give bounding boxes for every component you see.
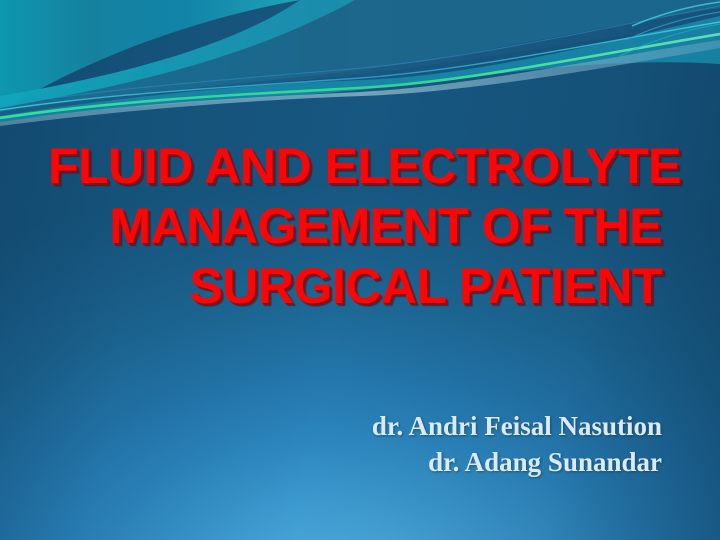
presentation-slide: FLUID AND ELECTROLYTE MANAGEMENT OF THE … xyxy=(0,0,720,540)
subtitle-line-2: dr. Adang Sunandar xyxy=(48,444,662,480)
wave-ribbon-decoration xyxy=(0,0,720,150)
slide-title: FLUID AND ELECTROLYTE MANAGEMENT OF THE … xyxy=(48,136,662,316)
slide-subtitle: dr. Andri Feisal Nasution dr. Adang Suna… xyxy=(48,408,662,480)
title-line-3: SURGICAL PATIENT xyxy=(48,256,662,316)
subtitle-line-1: dr. Andri Feisal Nasution xyxy=(48,408,662,444)
title-line-1: FLUID AND ELECTROLYTE xyxy=(48,136,662,196)
title-line-2: MANAGEMENT OF THE xyxy=(48,196,662,256)
